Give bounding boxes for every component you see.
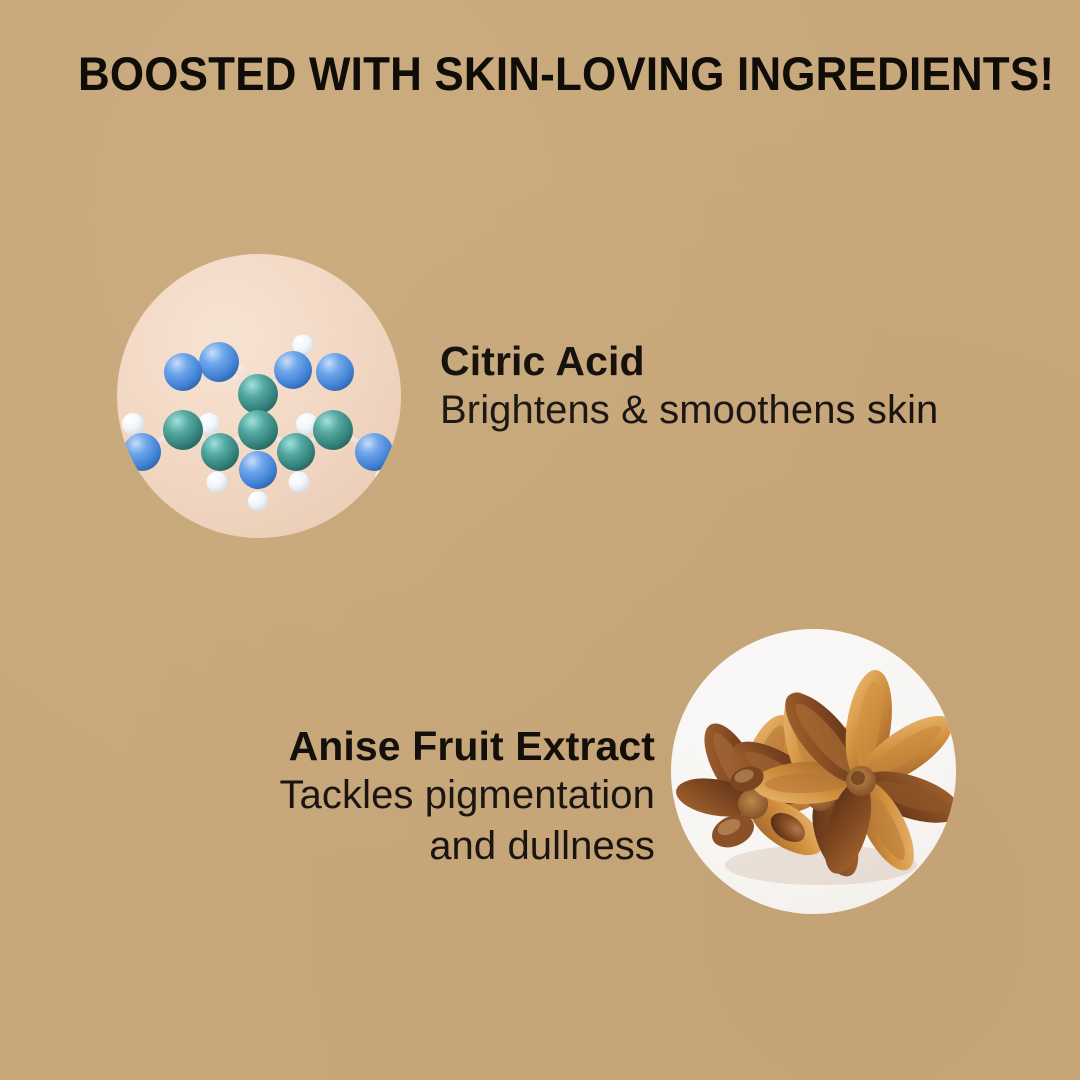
ingredient-benefit-anise-fruit-extract: Tackles pigmentation and dullness — [175, 770, 655, 872]
anise-fruit-media-circle — [671, 629, 956, 914]
ingredient-name-anise-fruit-extract: Anise Fruit Extract — [175, 722, 655, 770]
benefit-line: and dullness — [175, 821, 655, 872]
ingredients-poster: BOOSTED WITH SKIN-LOVING INGREDIENTS! — [0, 0, 1080, 1080]
benefit-line: Brightens & smoothens skin — [440, 385, 938, 436]
ingredient-name-citric-acid: Citric Acid — [440, 337, 938, 385]
page-title: BOOSTED WITH SKIN-LOVING INGREDIENTS! — [78, 49, 957, 99]
ingredient-benefit-citric-acid: Brightens & smoothens skin — [440, 385, 938, 436]
star-anise-photo — [671, 629, 956, 914]
benefit-line: Tackles pigmentation — [175, 770, 655, 821]
citric-acid-molecule-icon — [117, 254, 401, 538]
citric-acid-text-block: Citric Acid Brightens & smoothens skin — [440, 337, 938, 436]
anise-fruit-extract-text-block: Anise Fruit Extract Tackles pigmentation… — [175, 722, 655, 872]
citric-acid-media-circle — [117, 254, 401, 538]
